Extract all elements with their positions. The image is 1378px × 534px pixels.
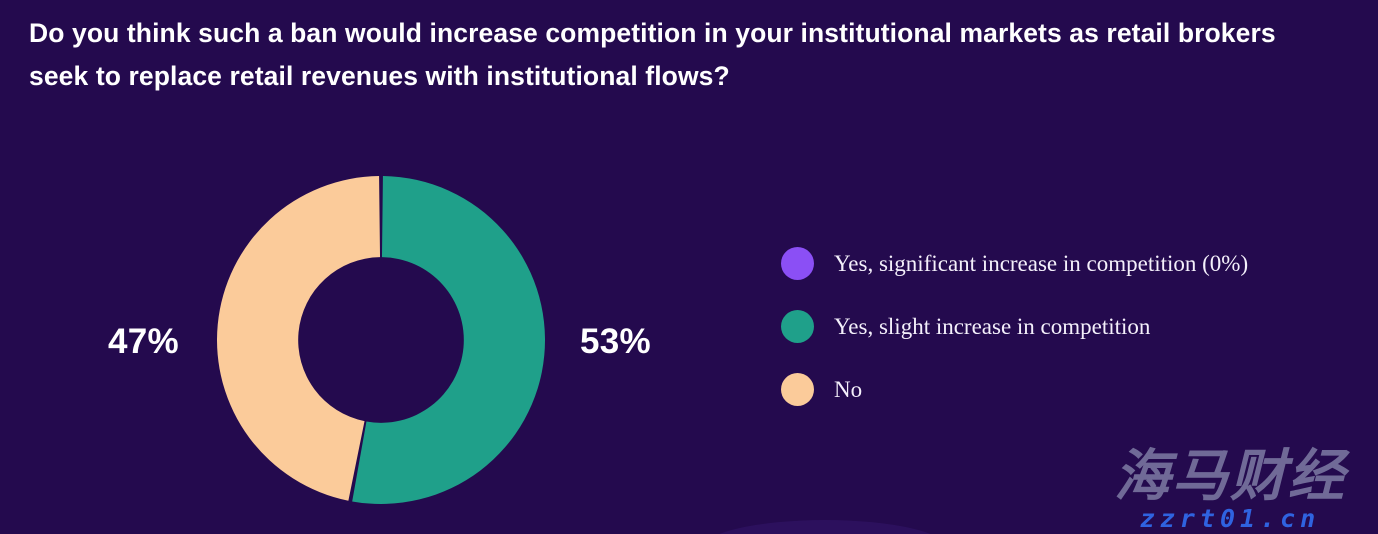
- page-title: Do you think such a ban would increase c…: [29, 12, 1289, 98]
- legend-item-label: Yes, slight increase in competition: [834, 313, 1150, 341]
- legend-swatch-icon: [781, 247, 814, 280]
- slice-label-no: 47%: [108, 322, 179, 362]
- watermark-brand: 海马财经: [1096, 446, 1364, 508]
- donut-slice-yes-slight[interactable]: [352, 176, 545, 504]
- legend-item-label: Yes, significant increase in competition…: [834, 250, 1248, 278]
- donut-slice-no[interactable]: [217, 176, 380, 501]
- watermark-url: zzrt01.cn: [1096, 504, 1364, 534]
- legend-swatch-icon: [781, 373, 814, 406]
- donut-chart: 47% 53%: [0, 140, 760, 534]
- legend-item-no[interactable]: No: [781, 358, 1341, 421]
- slice-label-yes-slight: 53%: [580, 322, 651, 362]
- legend-item-yes-significant[interactable]: Yes, significant increase in competition…: [781, 232, 1341, 295]
- watermark: 海马财经 zzrt01.cn: [1096, 446, 1364, 534]
- legend-item-yes-slight[interactable]: Yes, slight increase in competition: [781, 295, 1341, 358]
- chart-canvas: Do you think such a ban would increase c…: [0, 0, 1378, 534]
- donut-svg: [217, 176, 545, 504]
- legend-swatch-icon: [781, 310, 814, 343]
- legend-item-label: No: [834, 376, 862, 404]
- chart-legend: Yes, significant increase in competition…: [781, 232, 1341, 421]
- donut-graphic: [217, 176, 545, 504]
